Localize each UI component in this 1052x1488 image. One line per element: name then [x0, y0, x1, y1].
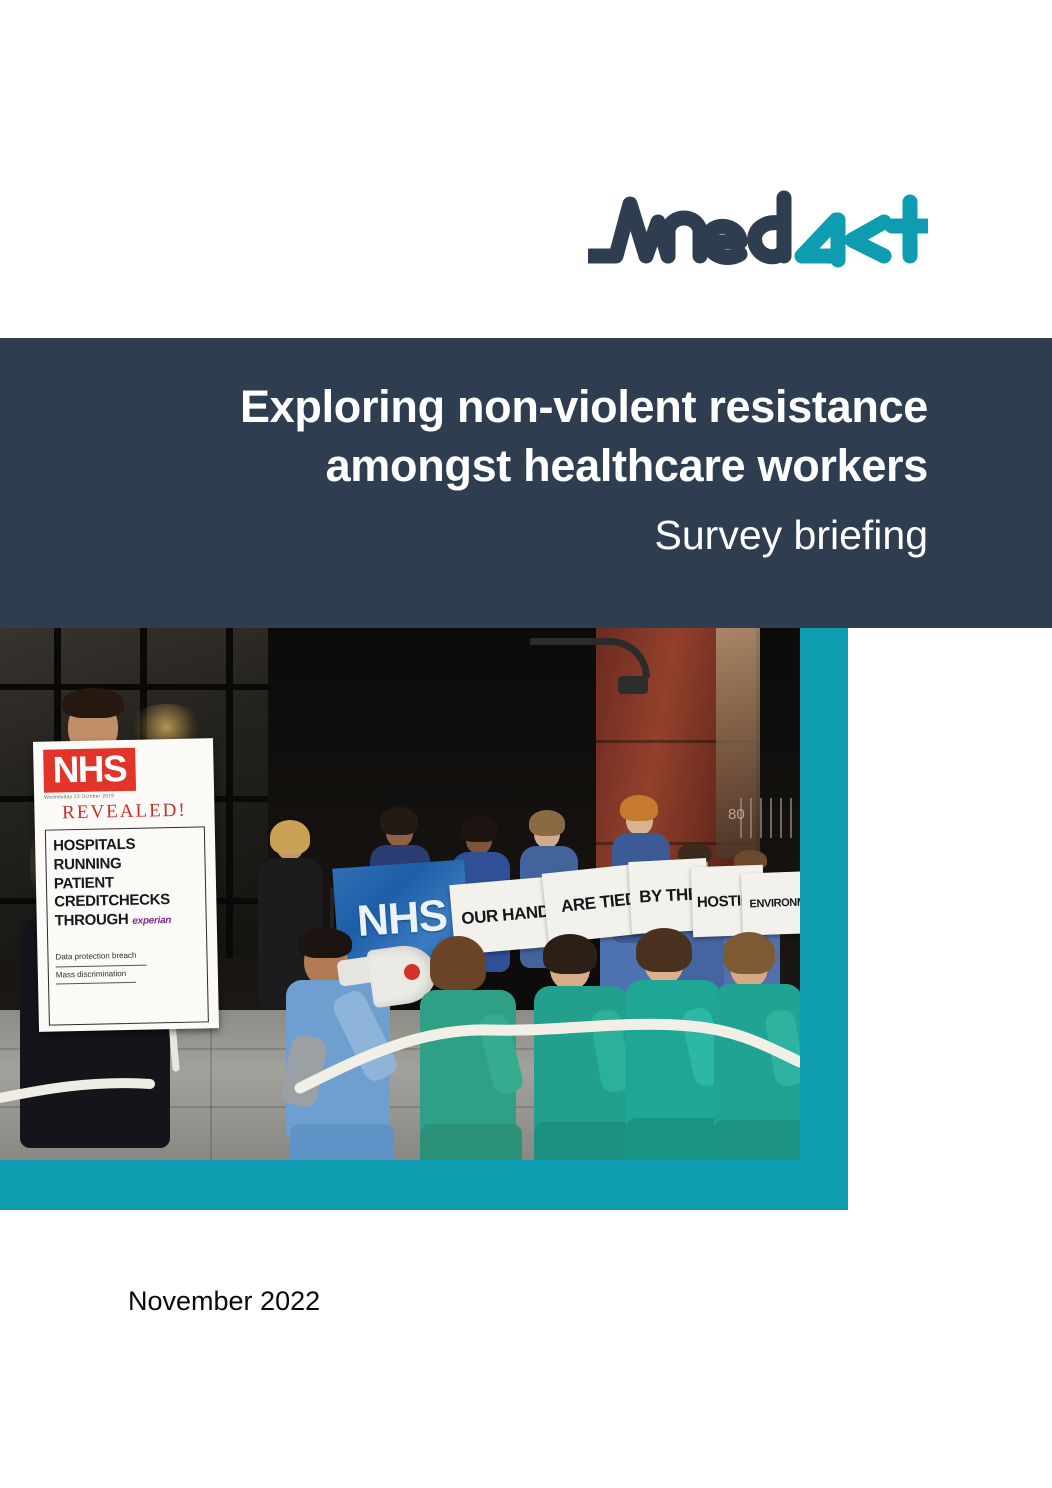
sign-revealed: REVEALED! [44, 799, 204, 824]
cctv-camera-icon [618, 676, 648, 694]
medact-logo-svg [588, 190, 928, 280]
sign-bullet-2: Mass discrimination [56, 965, 137, 984]
street-number: 80 [728, 806, 745, 823]
experian-logo: experian [132, 915, 171, 927]
cctv-arm [530, 638, 650, 678]
nhs-protest-sign: NHS Wednesday 23 October 2019 REVEALED! … [33, 738, 219, 1032]
logo-letter-c [852, 222, 884, 256]
megaphone-button [404, 964, 420, 980]
sign-headline-2: PATIENT CREDITCHECKS [54, 872, 199, 913]
sign-body: HOSPITALS RUNNING PATIENT CREDITCHECKS T… [45, 826, 209, 1025]
sign-headline-3: THROUGH experian [55, 909, 199, 931]
sign-bullet-1: Data protection breach [55, 947, 146, 967]
title-line-1: Exploring non-violent resistance [240, 381, 928, 432]
logo-med-mark [590, 204, 700, 256]
sign-bullets: Data protection breach Mass discriminati… [55, 946, 200, 985]
title-band: Exploring non-violent resistance amongst… [0, 338, 1052, 628]
sign-headline-1: HOSPITALS RUNNING [53, 835, 198, 876]
logo-letter-t [892, 202, 926, 256]
logo-header [0, 0, 1052, 338]
nhs-wordmark: NHS [43, 748, 136, 793]
page-title: Exploring non-violent resistance amongst… [120, 378, 928, 495]
publication-date: November 2022 [128, 1286, 320, 1317]
title-line-2: amongst healthcare workers [326, 440, 928, 491]
cover-photo: 80 [0, 628, 800, 1160]
railing [740, 798, 800, 838]
page-subtitle: Survey briefing [120, 509, 928, 562]
placard-environment: ENVIRONMENT [741, 870, 800, 935]
logo-letter-a [802, 220, 838, 260]
medact-logo [588, 190, 928, 280]
logo-letter-e [706, 226, 740, 257]
logo-letter-d [755, 198, 784, 257]
